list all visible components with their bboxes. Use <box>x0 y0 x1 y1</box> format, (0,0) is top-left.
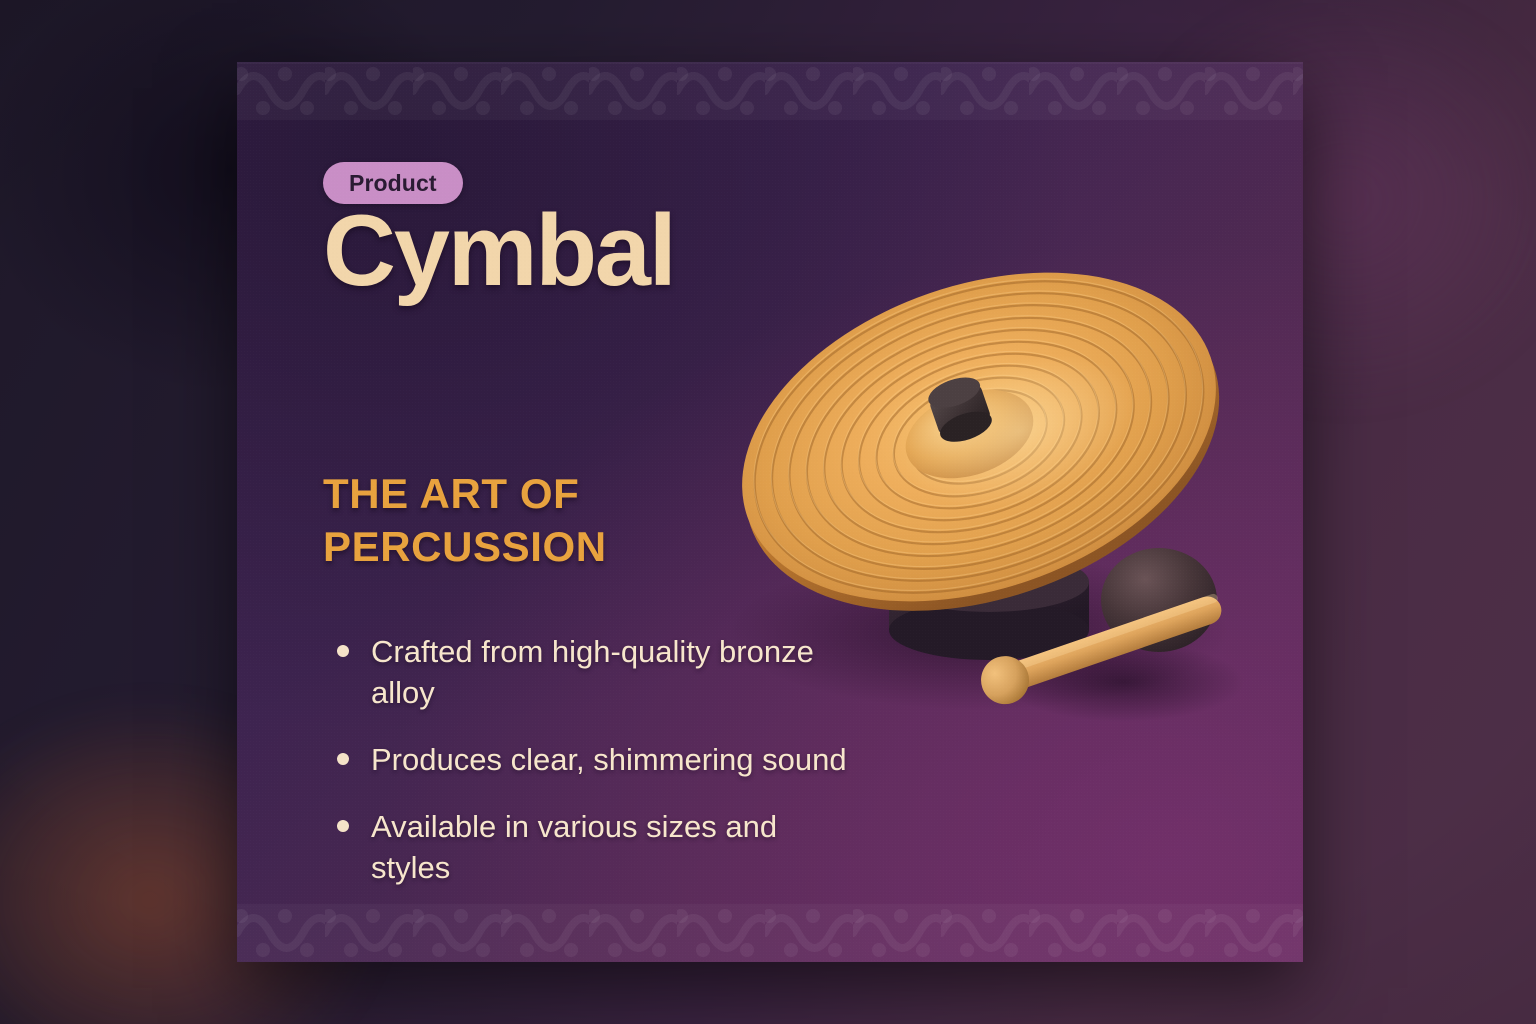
list-item: Produces clear, shimmering sound <box>323 740 863 781</box>
feature-list: Crafted from high-quality bronze alloy P… <box>323 632 863 889</box>
feature-text: Produces clear, shimmering sound <box>371 742 847 777</box>
poster-canvas: Product Cymbal THE ART OF PERCUSSION Cra… <box>0 0 1536 1024</box>
list-item: Available in various sizes and styles <box>323 807 863 889</box>
poster-subtitle: THE ART OF PERCUSSION <box>323 468 793 574</box>
bullet-dot-icon <box>337 820 349 832</box>
bullet-dot-icon <box>337 645 349 657</box>
bullet-dot-icon <box>337 753 349 765</box>
page-title: Cymbal <box>323 198 675 305</box>
list-item: Crafted from high-quality bronze alloy <box>323 632 863 714</box>
feature-text: Available in various sizes and styles <box>371 809 777 885</box>
feature-text: Crafted from high-quality bronze alloy <box>371 634 814 710</box>
poster-content: Product Cymbal THE ART OF PERCUSSION Cra… <box>237 62 857 962</box>
product-card: Product Cymbal THE ART OF PERCUSSION Cra… <box>237 62 1303 962</box>
